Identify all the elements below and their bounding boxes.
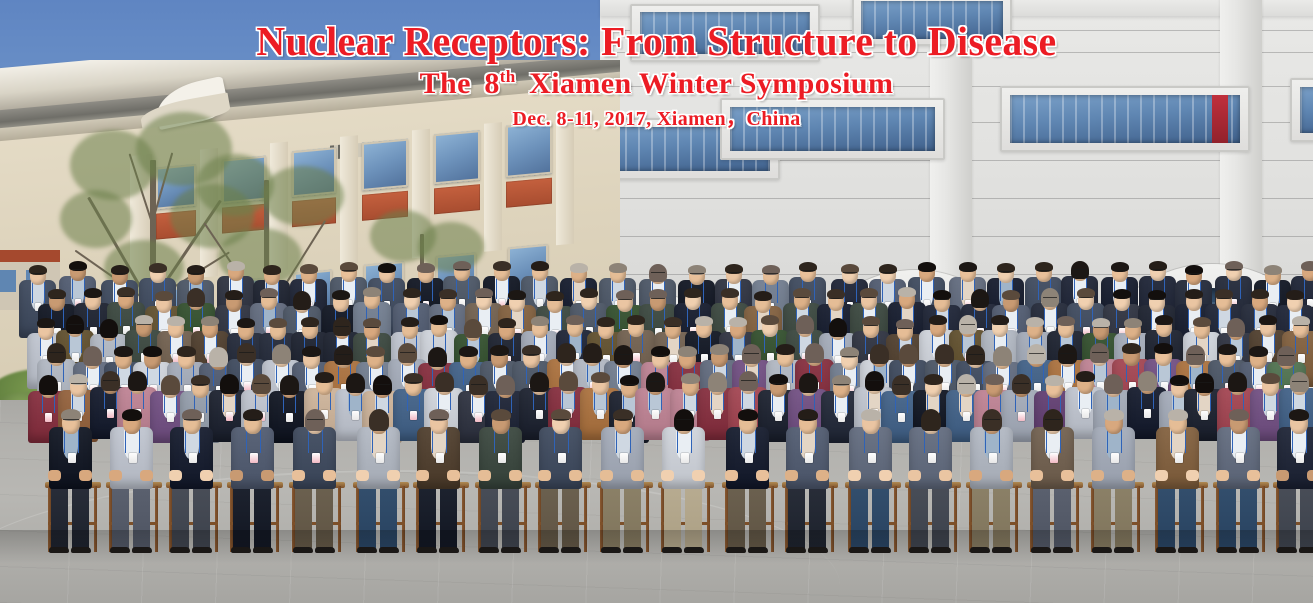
glasses: [1092, 352, 1107, 355]
hair: [1228, 372, 1247, 392]
glasses: [771, 383, 786, 386]
glasses: [49, 352, 64, 355]
name-badge: [1082, 409, 1089, 418]
glasses: [39, 327, 53, 330]
name-badge: [652, 410, 659, 419]
name-badge: [558, 453, 566, 463]
glasses: [741, 380, 756, 383]
hands: [538, 470, 584, 482]
lanyard: [999, 428, 1000, 453]
glasses: [336, 354, 351, 357]
name-badge: [1201, 411, 1208, 420]
glasses: [1037, 270, 1051, 273]
hair: [269, 318, 287, 328]
hair: [566, 315, 584, 325]
hair: [899, 344, 918, 364]
name-badge: [312, 453, 320, 463]
lanyard: [260, 428, 261, 453]
lanyard: [755, 428, 756, 453]
glasses: [1261, 324, 1275, 327]
hands: [1276, 470, 1313, 482]
hair: [128, 371, 147, 391]
conference-group-photo: Nuclear Receptors: From Structure to Dis…: [0, 0, 1313, 603]
hair: [293, 291, 311, 310]
hair: [428, 347, 447, 367]
hair: [1168, 409, 1188, 421]
glasses: [1279, 355, 1294, 358]
hair: [363, 287, 381, 297]
glasses: [184, 419, 200, 422]
hands: [725, 470, 771, 482]
glasses: [666, 326, 680, 329]
hair: [177, 346, 196, 357]
name-badge: [410, 411, 417, 420]
glasses: [1045, 419, 1061, 422]
name-badge: [1267, 411, 1274, 420]
glasses: [227, 299, 241, 302]
glasses: [307, 419, 323, 422]
glasses: [1197, 382, 1212, 385]
glasses: [1220, 353, 1235, 356]
glasses: [615, 419, 631, 422]
hands: [600, 470, 646, 482]
hair: [1261, 373, 1280, 384]
glasses: [829, 298, 843, 301]
hair: [729, 317, 747, 327]
name-badge: [928, 453, 936, 463]
hair: [710, 344, 729, 355]
glasses: [71, 269, 85, 272]
hair: [430, 315, 448, 325]
hair: [918, 262, 936, 272]
glasses: [1079, 297, 1093, 300]
hair: [491, 409, 511, 421]
name-badge: [286, 413, 293, 422]
glasses: [1188, 354, 1203, 357]
glasses: [375, 384, 390, 387]
hair: [796, 315, 814, 334]
hands: [661, 470, 707, 482]
glasses: [1029, 353, 1044, 356]
hair: [805, 343, 824, 363]
glasses: [342, 270, 356, 273]
name-badge: [745, 453, 753, 463]
hair: [1138, 371, 1157, 391]
hair: [738, 409, 758, 421]
glasses: [727, 272, 741, 275]
hands: [416, 470, 462, 482]
glasses: [510, 299, 524, 302]
lanyard: [199, 428, 200, 453]
hair: [580, 288, 598, 298]
glasses: [431, 419, 447, 422]
hands: [292, 470, 338, 482]
hair: [280, 375, 299, 395]
hair: [201, 316, 219, 326]
name-badge: [838, 413, 845, 422]
name-badge: [129, 453, 137, 463]
name-badge: [1175, 453, 1183, 463]
hair: [459, 346, 478, 357]
hair: [39, 375, 58, 395]
hair: [570, 263, 588, 273]
crowd-shadow: [0, 530, 1313, 564]
hair: [684, 288, 702, 298]
hair: [591, 372, 610, 383]
lanyard: [1060, 428, 1061, 453]
hair: [1229, 409, 1249, 421]
hands: [356, 470, 402, 482]
hair: [237, 318, 255, 328]
glasses: [31, 273, 45, 276]
hair: [597, 317, 615, 327]
glasses: [477, 297, 491, 300]
glasses: [553, 419, 569, 422]
glasses: [113, 273, 127, 276]
hair: [678, 346, 697, 357]
hands: [785, 470, 831, 482]
hair: [993, 346, 1012, 366]
hair: [531, 261, 549, 271]
hair: [315, 372, 334, 383]
lanyard: [1306, 428, 1307, 453]
hands: [48, 470, 94, 482]
hair: [1264, 265, 1282, 275]
name-badge: [436, 453, 444, 463]
hair: [799, 373, 818, 393]
lanyard: [386, 428, 387, 453]
glasses: [1043, 297, 1057, 300]
hands: [169, 470, 215, 482]
hair: [209, 347, 228, 367]
hair: [1104, 409, 1124, 421]
glasses: [71, 383, 86, 386]
hands: [109, 470, 155, 482]
hair: [300, 264, 318, 274]
hands: [908, 470, 954, 482]
hair: [187, 288, 205, 307]
hair: [220, 374, 239, 394]
hair: [378, 263, 396, 273]
hair: [754, 291, 772, 301]
glasses: [867, 380, 882, 383]
name-badge: [1050, 453, 1058, 463]
hair: [369, 409, 389, 431]
hair: [493, 261, 511, 271]
glasses: [335, 326, 349, 329]
name-badge: [620, 453, 628, 463]
hair: [161, 375, 180, 395]
hair: [1251, 289, 1269, 299]
glasses: [500, 327, 514, 330]
glasses: [365, 327, 379, 330]
glasses: [68, 324, 82, 327]
glasses: [968, 354, 983, 357]
glasses: [834, 384, 849, 387]
glasses: [690, 273, 704, 276]
name-badge: [775, 412, 782, 421]
hair: [1104, 374, 1123, 394]
glasses: [616, 354, 631, 357]
glasses: [524, 354, 539, 357]
hair: [761, 315, 779, 325]
name-badge: [963, 412, 970, 421]
lanyard: [139, 428, 140, 453]
glasses: [676, 419, 692, 422]
hair: [435, 372, 454, 392]
glasses: [304, 355, 319, 358]
glasses: [1227, 269, 1241, 272]
name-badge: [189, 453, 197, 463]
glasses: [973, 298, 987, 301]
name-badge: [898, 413, 905, 422]
name-badge: [498, 453, 506, 463]
hair: [263, 265, 281, 275]
hair: [84, 288, 102, 298]
glasses: [137, 324, 151, 327]
hair: [1286, 290, 1304, 300]
lanyard: [815, 428, 816, 453]
hair: [401, 317, 419, 327]
hair: [1124, 318, 1142, 328]
glasses: [1292, 381, 1307, 384]
attendee-crowd: [0, 0, 1313, 603]
glasses: [193, 384, 208, 387]
lanyard: [322, 428, 323, 453]
lanyard: [568, 428, 569, 453]
name-badge: [1111, 453, 1119, 463]
glasses: [881, 272, 895, 275]
hair: [1002, 290, 1020, 300]
hair: [1122, 343, 1141, 354]
hair: [609, 263, 627, 273]
glasses: [1150, 299, 1164, 302]
name-badge: [1296, 453, 1304, 463]
glasses: [1217, 298, 1231, 301]
glasses: [1113, 270, 1127, 273]
hair: [1026, 317, 1044, 327]
name-badge: [1018, 412, 1025, 421]
glasses: [1078, 380, 1093, 383]
lanyard: [878, 428, 879, 453]
lanyard: [691, 428, 692, 453]
glasses: [1060, 353, 1075, 356]
lanyard: [78, 428, 79, 453]
glasses: [548, 300, 562, 303]
hair: [464, 319, 482, 338]
hair: [530, 372, 549, 392]
glasses: [898, 328, 912, 331]
glasses: [441, 298, 455, 301]
name-badge: [868, 453, 876, 463]
hands: [1216, 470, 1262, 482]
name-badge: [1144, 409, 1151, 418]
glasses: [245, 419, 261, 422]
glasses: [961, 270, 975, 273]
glasses: [63, 419, 79, 422]
hair: [829, 318, 847, 337]
name-badge: [1236, 453, 1244, 463]
hair: [403, 288, 421, 298]
lanyard: [1307, 332, 1308, 354]
hair: [167, 316, 185, 326]
hair: [496, 375, 515, 395]
glasses: [119, 296, 133, 299]
glasses: [800, 419, 816, 422]
glasses: [651, 298, 665, 301]
hair: [1045, 375, 1064, 386]
glasses: [862, 297, 876, 300]
glasses: [894, 384, 909, 387]
lanyard: [938, 428, 939, 453]
glasses: [993, 324, 1007, 327]
glasses: [239, 352, 254, 355]
hair: [1057, 316, 1075, 326]
hair: [1289, 409, 1309, 421]
glasses: [50, 298, 64, 301]
glasses: [254, 383, 269, 386]
glasses: [406, 382, 421, 385]
glasses: [455, 269, 469, 272]
name-badge: [805, 453, 813, 463]
hair: [531, 316, 549, 326]
glasses: [1294, 325, 1308, 328]
name-badge: [681, 453, 689, 463]
hair: [861, 409, 881, 421]
hair: [627, 315, 645, 325]
hair: [227, 261, 245, 271]
hair: [559, 371, 578, 391]
hair: [122, 409, 142, 421]
hands: [969, 470, 1015, 482]
glasses: [471, 384, 486, 387]
glasses: [1073, 269, 1087, 272]
hair: [929, 315, 947, 325]
glasses: [1157, 324, 1171, 327]
lanyard: [1246, 428, 1247, 453]
glasses: [653, 355, 668, 358]
glasses: [864, 325, 878, 328]
hands: [478, 470, 524, 482]
hair: [1154, 343, 1173, 354]
hair: [143, 346, 162, 357]
glasses: [1151, 269, 1165, 272]
hair: [708, 372, 727, 392]
hair: [149, 263, 167, 273]
name-badge: [250, 453, 258, 463]
name-badge: [714, 410, 721, 419]
glasses: [959, 383, 974, 386]
hair: [114, 346, 133, 357]
hair: [1193, 317, 1211, 327]
glasses: [103, 380, 118, 383]
glasses: [842, 356, 857, 359]
hair: [1227, 318, 1245, 337]
hair: [1185, 289, 1203, 299]
hair: [870, 344, 889, 364]
hair: [921, 409, 941, 431]
hands: [230, 470, 276, 482]
name-badge: [989, 453, 997, 463]
lanyard: [1185, 428, 1186, 453]
glasses: [189, 273, 203, 276]
hair: [776, 344, 795, 355]
hands: [1091, 470, 1137, 482]
hair: [695, 316, 713, 326]
name-badge: [68, 453, 76, 463]
hair: [1301, 261, 1313, 271]
glasses: [400, 352, 415, 355]
hands: [1030, 470, 1076, 482]
hair: [155, 291, 173, 301]
lanyard: [1121, 428, 1122, 453]
hair: [583, 343, 602, 363]
hands: [848, 470, 894, 482]
glasses: [801, 270, 815, 273]
hair: [898, 287, 916, 297]
glasses: [795, 297, 809, 300]
glasses: [1094, 327, 1108, 330]
glasses: [999, 271, 1013, 274]
hair: [417, 263, 435, 273]
glasses: [648, 381, 663, 384]
hair: [1249, 346, 1268, 357]
glasses: [618, 299, 632, 302]
glasses: [303, 326, 317, 329]
hair: [100, 319, 118, 338]
glasses: [961, 324, 975, 327]
lanyard: [630, 428, 631, 453]
glasses: [843, 272, 857, 275]
lanyard: [446, 428, 447, 453]
hair: [721, 288, 739, 298]
glasses: [935, 299, 949, 302]
glasses: [651, 272, 665, 275]
hair: [83, 346, 102, 366]
glasses: [492, 354, 507, 357]
glasses: [262, 297, 276, 300]
hair: [935, 344, 954, 364]
glasses: [764, 273, 778, 276]
hair: [1113, 289, 1131, 299]
name-badge: [376, 453, 384, 463]
hair: [272, 344, 291, 364]
glasses: [984, 419, 1000, 422]
glasses: [1014, 383, 1029, 386]
hair: [924, 374, 943, 385]
hair: [332, 290, 350, 300]
hair: [366, 346, 385, 357]
lanyard: [508, 428, 509, 453]
glasses: [744, 353, 759, 356]
hands: [1155, 470, 1201, 482]
glasses: [1187, 273, 1201, 276]
